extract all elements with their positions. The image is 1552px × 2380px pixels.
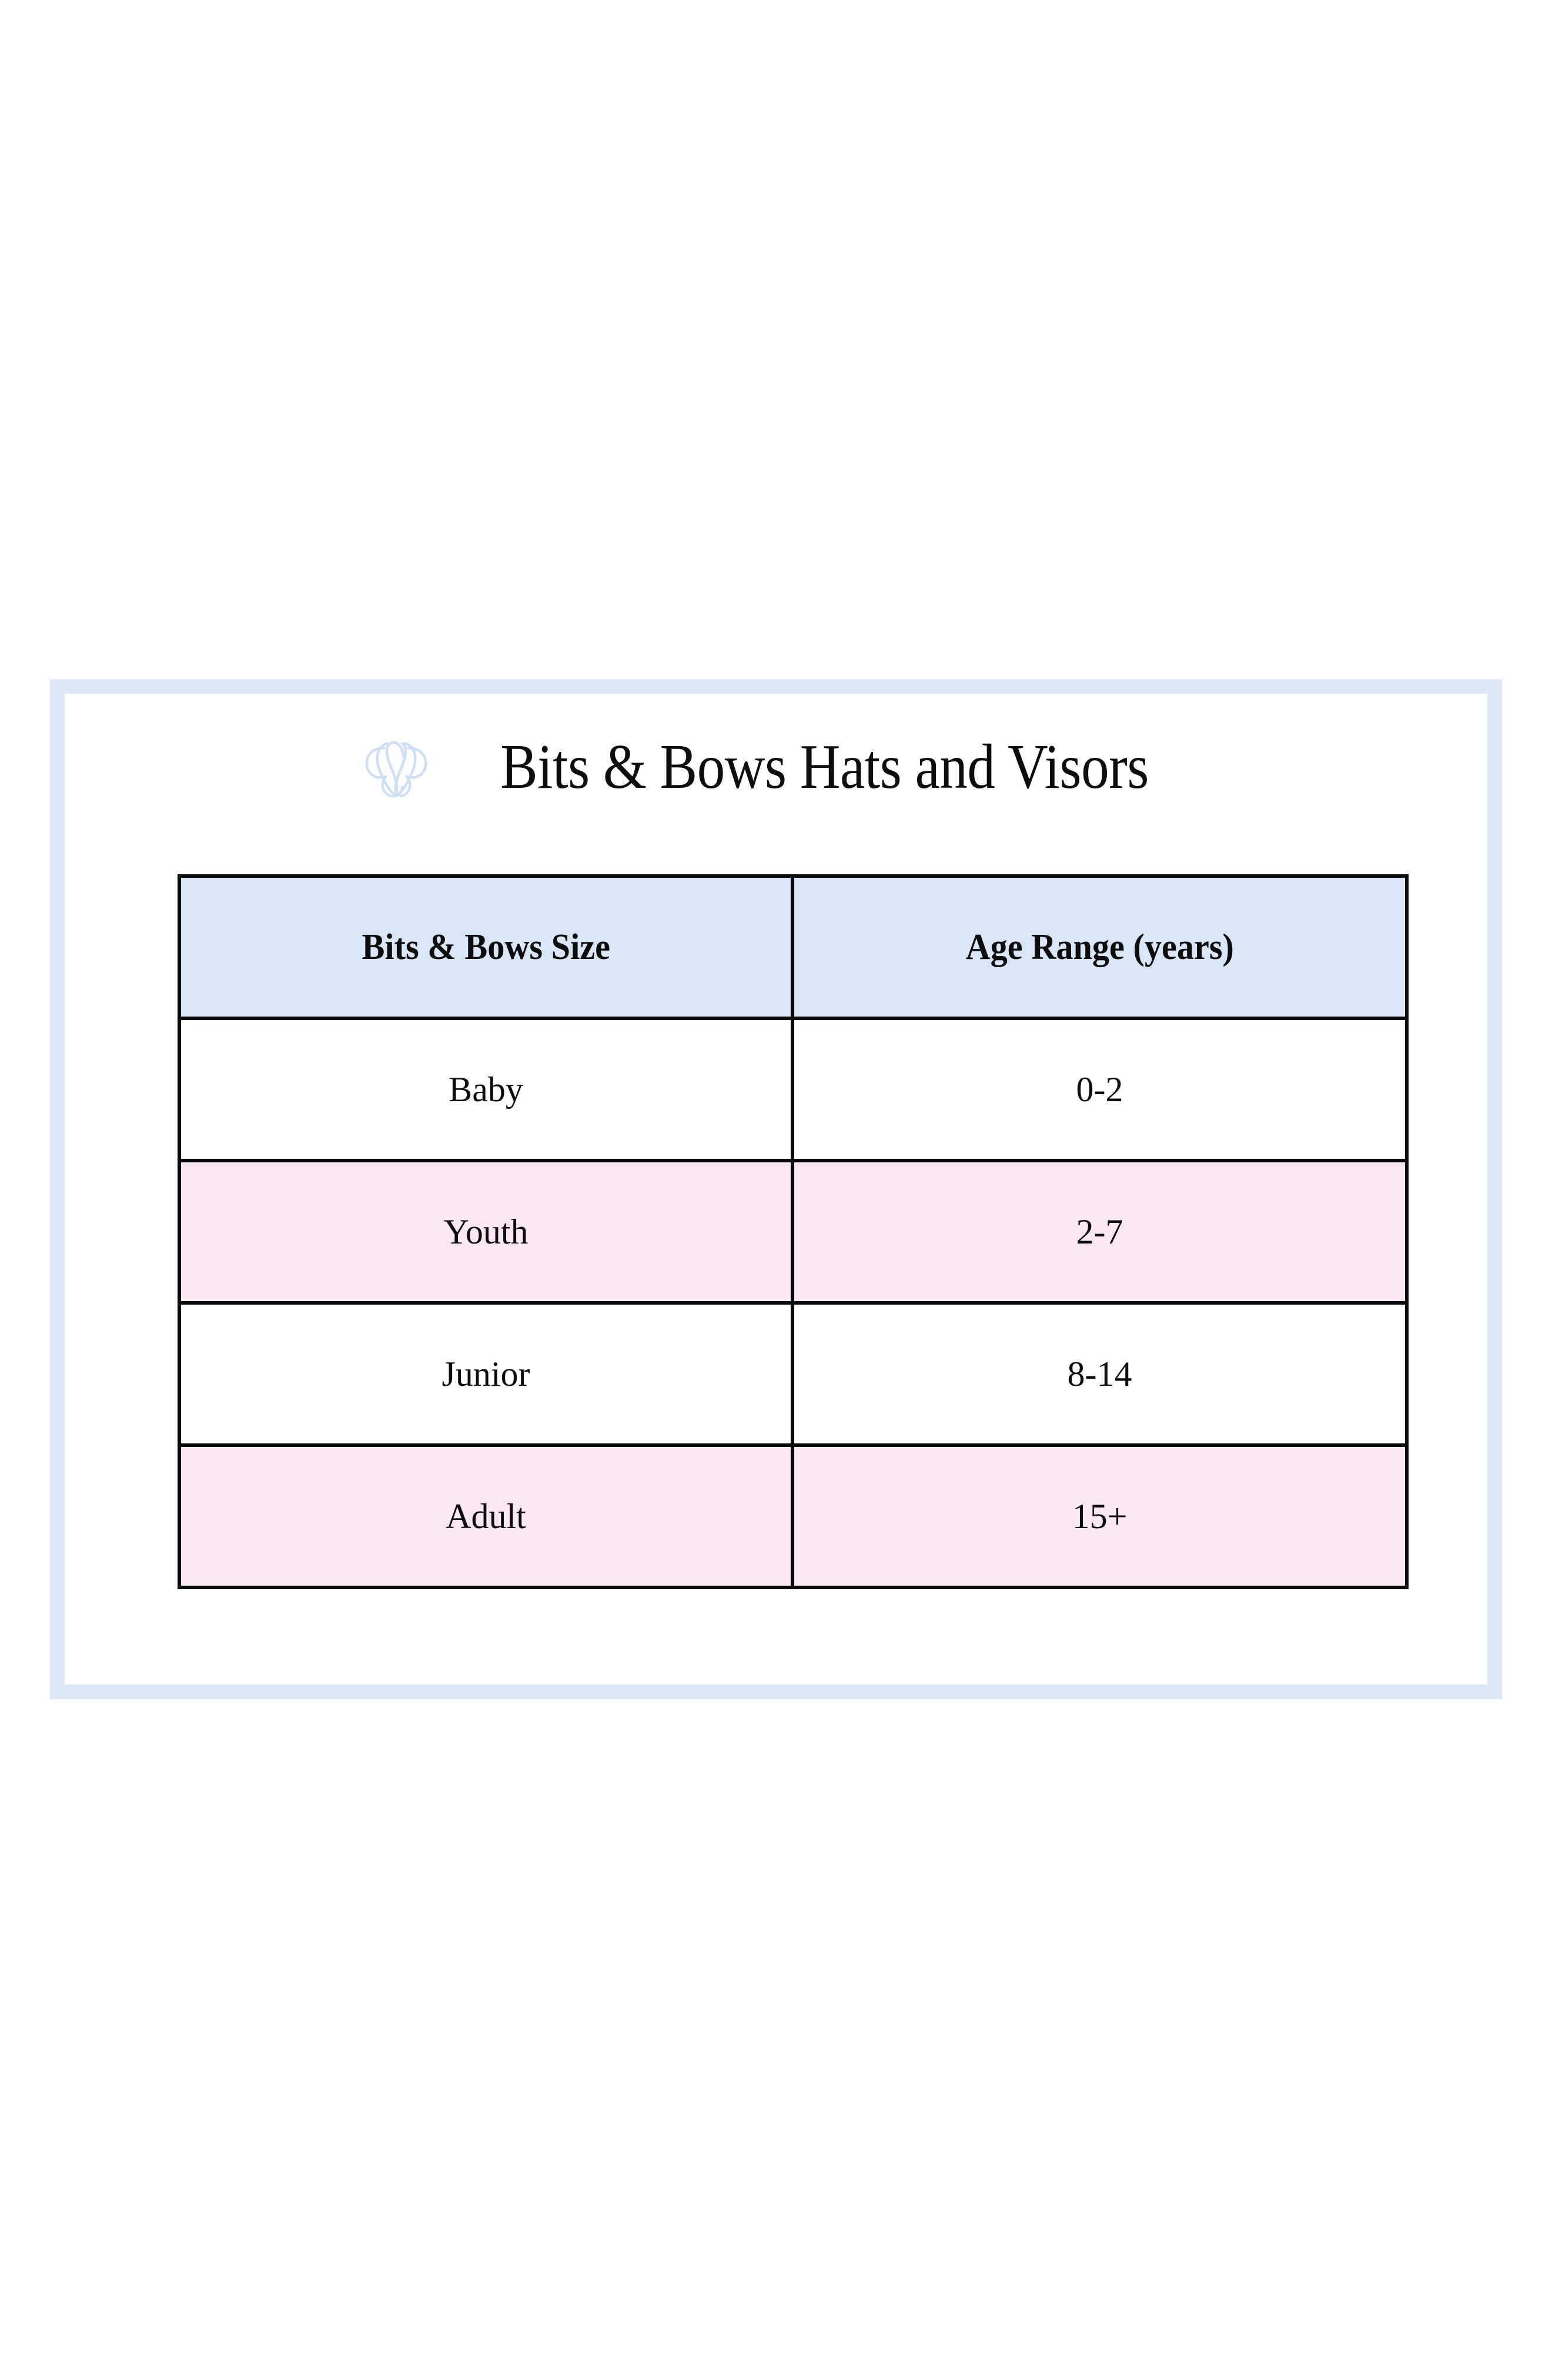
cell-age-range: 15+: [792, 1445, 1407, 1587]
table-header-row: Bits & Bows Size Age Range (years): [179, 876, 1407, 1018]
size-table-container: Bits & Bows Size Age Range (years) Baby …: [178, 874, 1405, 1589]
cell-size: Baby: [179, 1018, 792, 1161]
table-row: Baby 0-2: [179, 1018, 1407, 1161]
size-chart-table: Bits & Bows Size Age Range (years) Baby …: [178, 874, 1409, 1589]
cell-size: Junior: [179, 1303, 792, 1445]
bits-and-bows-monogram-logo-icon: [359, 731, 434, 807]
column-header-age-range: Age Range (years): [792, 876, 1407, 1018]
cell-age-range: 0-2: [792, 1018, 1407, 1161]
cell-size: Youth: [179, 1161, 792, 1303]
cell-age-range: 8-14: [792, 1303, 1407, 1445]
size-chart-card: Bits & Bows Hats and Visors Bits & Bows …: [50, 679, 1502, 1699]
cell-size: Adult: [179, 1445, 792, 1587]
cell-age-range: 2-7: [792, 1161, 1407, 1303]
table-row: Youth 2-7: [179, 1161, 1407, 1303]
table-row: Junior 8-14: [179, 1303, 1407, 1445]
table-row: Adult 15+: [179, 1445, 1407, 1587]
page-title: Bits & Bows Hats and Visors: [501, 736, 1149, 799]
column-header-size: Bits & Bows Size: [179, 876, 792, 1018]
card-title-row: Bits & Bows Hats and Visors: [65, 711, 1487, 823]
